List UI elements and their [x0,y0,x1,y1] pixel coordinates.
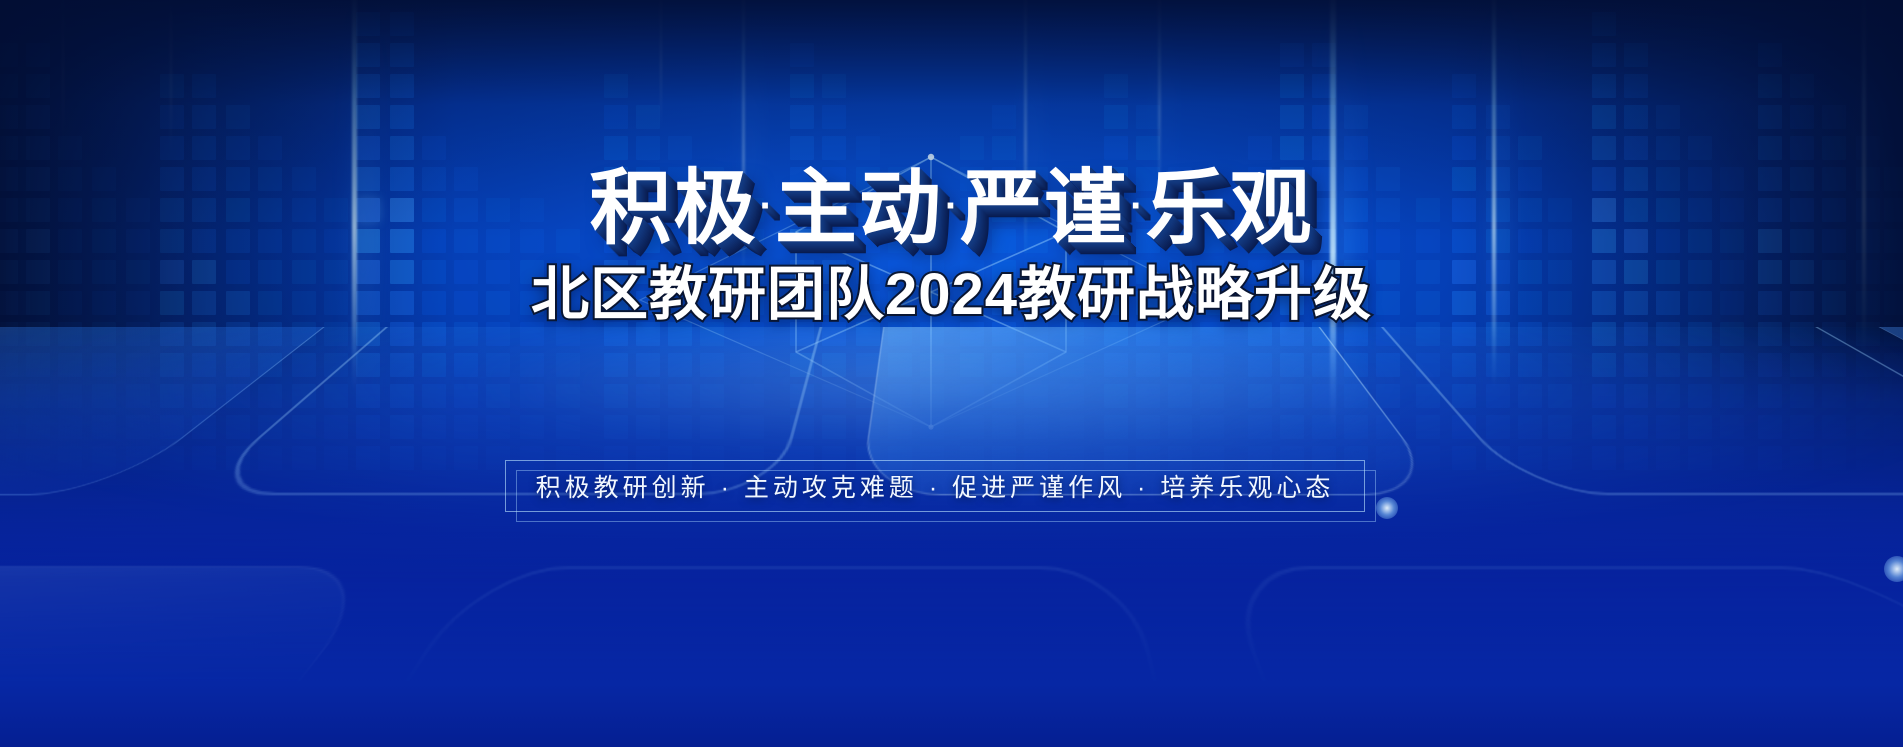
headline-separator-icon: · [759,184,772,228]
floor-fade [0,327,1903,747]
tagline-text: 积极教研创新 · 主动攻克难题 · 促进严谨作风 · 培养乐观心态 [505,460,1365,512]
perspective-tile-floor [0,327,1903,747]
banner-canvas: 积极·主动·严谨·乐观 北区教研团队2024教研战略升级 积极教研创新 · 主动… [0,0,1903,747]
headline-primary: 积极·主动·严谨·乐观 [0,168,1903,250]
headline-block: 积极·主动·严谨·乐观 北区教研团队2024教研战略升级 [0,168,1903,324]
headline-word-2: 主动 [775,163,943,254]
spark-dot [1376,497,1398,519]
headline-word-4: 乐观 [1146,163,1314,254]
headline-separator-icon: · [945,184,958,228]
headline-separator-icon: · [1130,184,1143,228]
headline-secondary: 北区教研团队2024教研战略升级 [0,266,1903,324]
spark-dot [1884,556,1903,582]
headline-word-1: 积极 [589,163,757,254]
headline-word-3: 严谨 [960,163,1128,254]
